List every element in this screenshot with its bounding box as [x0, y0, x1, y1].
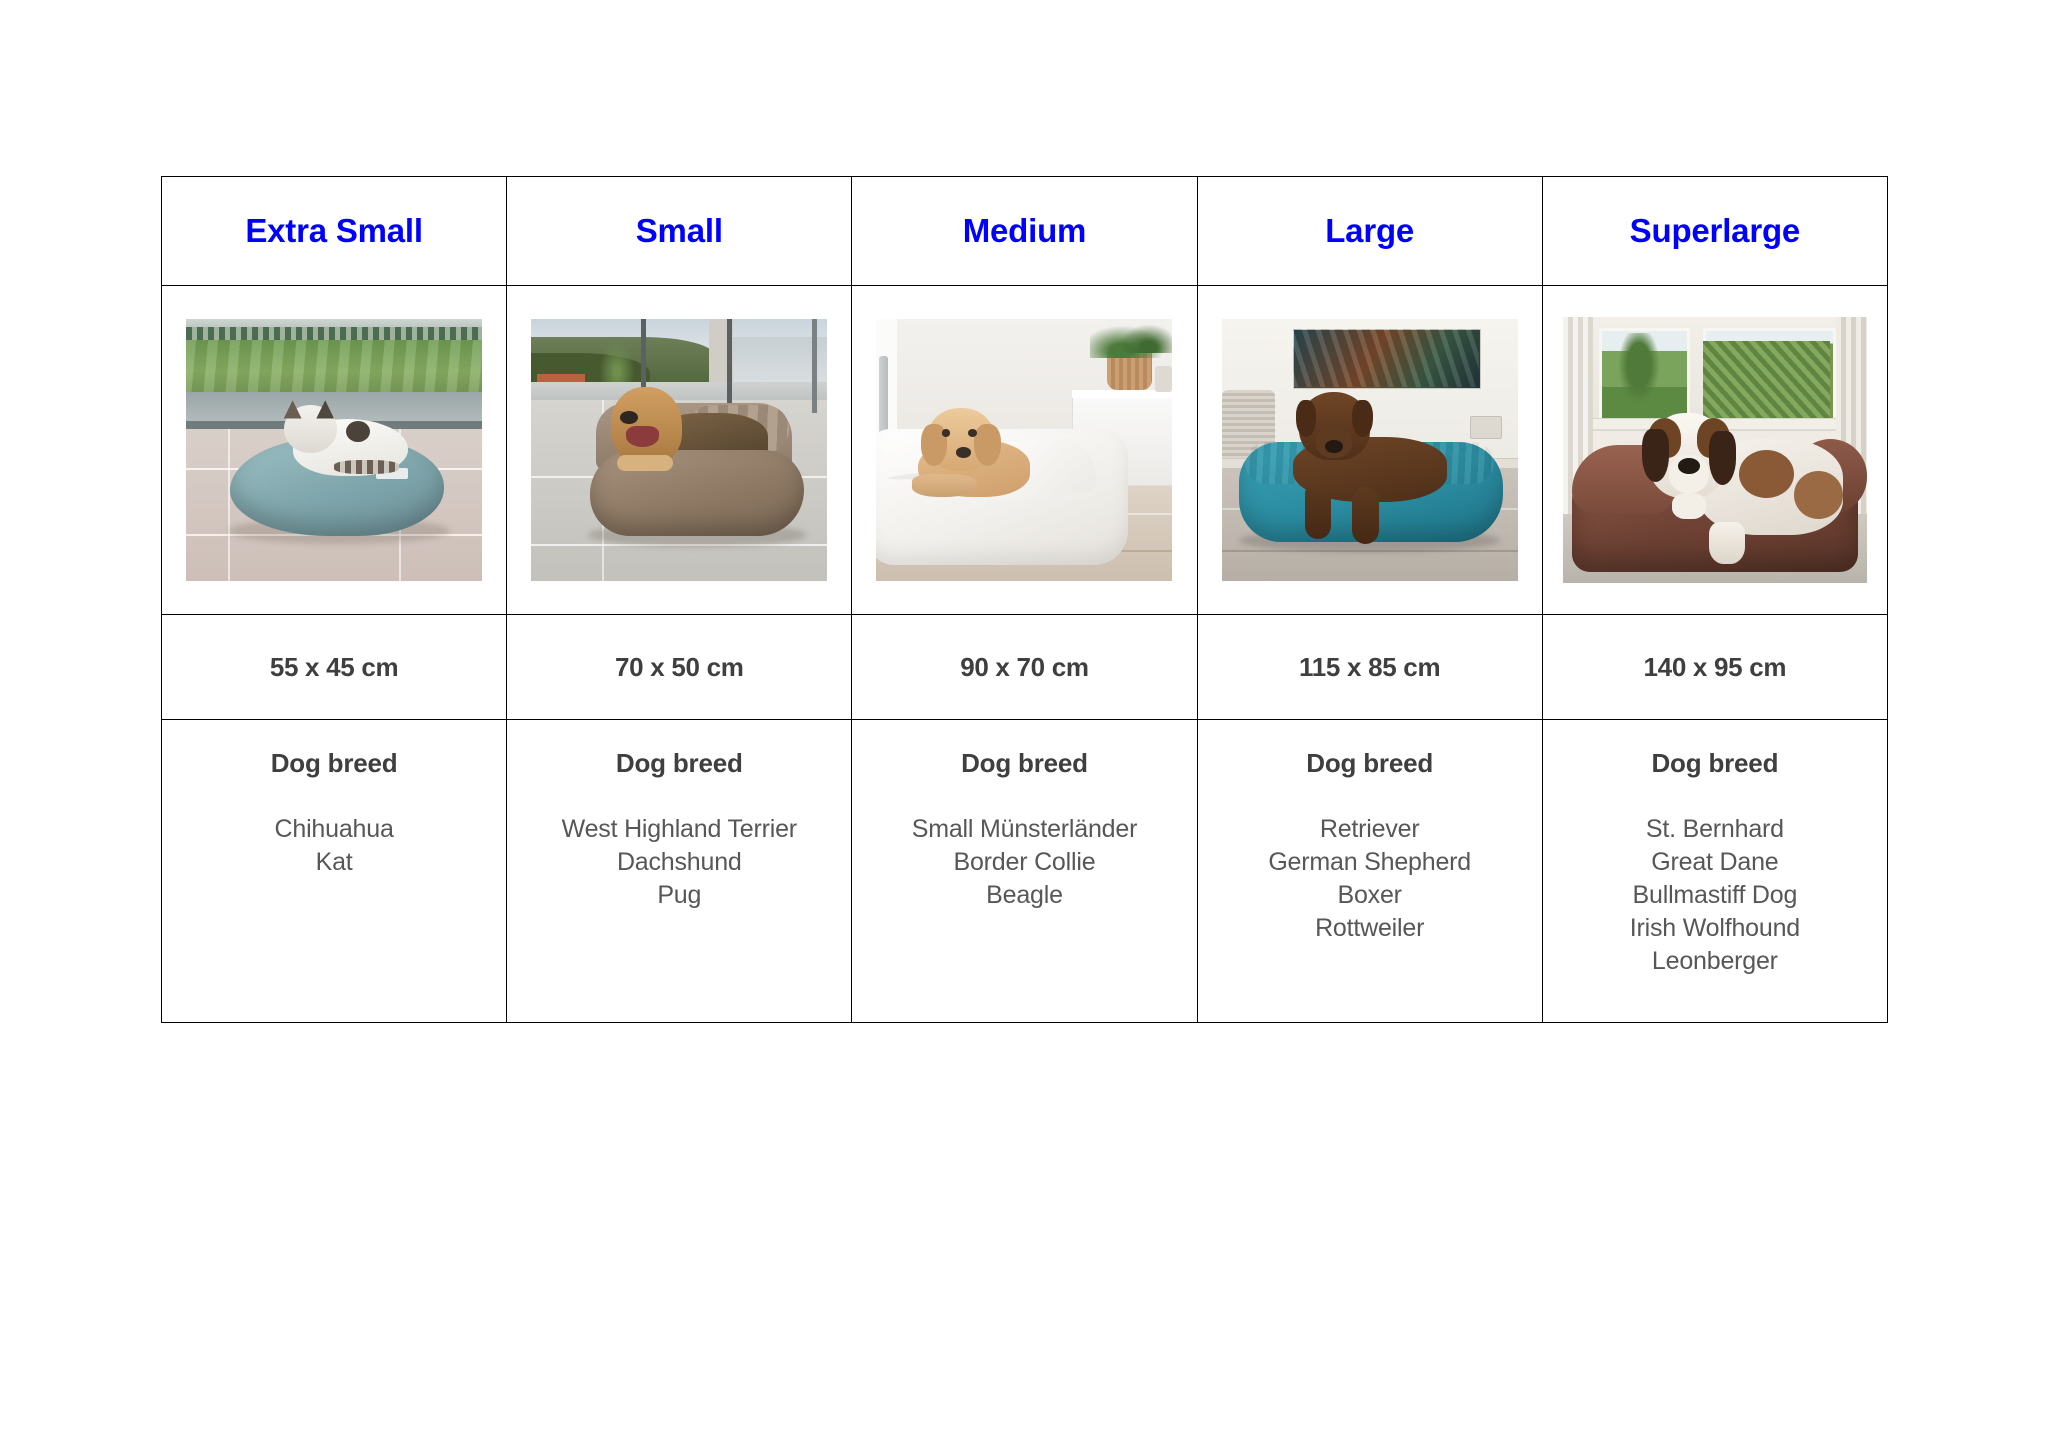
photo-small	[531, 319, 827, 581]
dog-eye-right	[968, 429, 977, 437]
breed-item: St. Bernhard	[1543, 813, 1887, 846]
breed-item: German Shepherd	[1198, 846, 1542, 879]
photo-cell-small	[507, 286, 852, 615]
cat-tail	[334, 460, 399, 473]
breed-item: West Highland Terrier	[507, 813, 851, 846]
dog-nose	[1678, 458, 1699, 474]
dog-ear-right	[1709, 431, 1736, 484]
photo-cell-medium	[852, 286, 1197, 615]
breed-cell-extra-small: Dog breed Chihuahua Kat	[162, 720, 507, 1023]
dimension-value-superlarge: 140 x 95 cm	[1543, 652, 1887, 683]
garden-hedge	[1703, 341, 1831, 418]
dog-paw-secondary	[1672, 493, 1705, 520]
breed-list-superlarge: St. Bernhard Great Dane Bullmastiff Dog …	[1543, 813, 1887, 978]
header-cell-small: Small	[507, 177, 852, 286]
photo-medium	[876, 319, 1172, 581]
header-cell-large: Large	[1197, 177, 1542, 286]
candle-object	[1155, 366, 1173, 392]
plant-foliage	[1113, 319, 1172, 353]
header-cell-medium: Medium	[852, 177, 1197, 286]
breed-item: Retriever	[1198, 813, 1542, 846]
breed-item: Bullmastiff Dog	[1543, 879, 1887, 912]
lawn-texture-layer	[186, 340, 482, 392]
dog-nose	[956, 447, 971, 457]
window-mullion	[812, 319, 817, 413]
breed-block-large: Dog breed Retriever German Shepherd Boxe…	[1198, 720, 1542, 945]
breed-item: Boxer	[1198, 879, 1542, 912]
column-title-large: Large	[1198, 213, 1542, 249]
dog-nose	[620, 411, 638, 424]
dimension-cell-extra-small: 55 x 45 cm	[162, 615, 507, 720]
breed-item: Border Collie	[852, 846, 1196, 879]
palm-foliage	[596, 335, 637, 387]
column-title-extra-small: Extra Small	[162, 213, 506, 249]
dog-ear-left	[1642, 429, 1669, 482]
table-header-row: Extra Small Small Medium Large Superlarg…	[162, 177, 1888, 286]
breed-list-extra-small: Chihuahua Kat	[162, 813, 506, 879]
dimension-value-extra-small: 55 x 45 cm	[162, 652, 506, 683]
dimension-value-medium: 90 x 70 cm	[852, 652, 1196, 683]
photo-wrapper-small	[507, 286, 851, 614]
breed-list-medium: Small Münsterländer Border Collie Beagle	[852, 813, 1196, 912]
breed-block-small: Dog breed West Highland Terrier Dachshun…	[507, 720, 851, 912]
column-title-small: Small	[507, 213, 851, 249]
power-socket-icon	[1470, 416, 1502, 439]
breed-cell-small: Dog breed West Highland Terrier Dachshun…	[507, 720, 852, 1023]
column-title-superlarge: Superlarge	[1543, 213, 1887, 249]
breed-item: Leonberger	[1543, 945, 1887, 978]
dog-open-mouth	[626, 426, 659, 447]
cat-coat-patch	[346, 421, 370, 442]
photo-cell-extra-small	[162, 286, 507, 615]
breed-item: Rottweiler	[1198, 912, 1542, 945]
table-photo-row	[162, 286, 1888, 615]
breed-list-small: West Highland Terrier Dachshund Pug	[507, 813, 851, 912]
dog-coat-patch	[1739, 450, 1794, 498]
tile-seam-icon	[228, 429, 230, 581]
dog-front-leg-right	[1352, 487, 1379, 545]
header-cell-extra-small: Extra Small	[162, 177, 507, 286]
dog-front-paws	[912, 474, 977, 498]
breed-list-large: Retriever German Shepherd Boxer Rottweil…	[1198, 813, 1542, 945]
dog-front-paw	[1709, 522, 1745, 565]
dog-coat-patch	[1794, 471, 1843, 519]
breed-cell-medium: Dog breed Small Münsterländer Border Col…	[852, 720, 1197, 1023]
breed-heading-large: Dog breed	[1198, 748, 1542, 779]
photo-extra-small	[186, 319, 482, 581]
photo-wrapper-medium	[852, 286, 1196, 614]
photo-cell-superlarge	[1542, 286, 1887, 615]
column-title-medium: Medium	[852, 213, 1196, 249]
dimension-value-small: 70 x 50 cm	[507, 652, 851, 683]
dimension-cell-superlarge: 140 x 95 cm	[1542, 615, 1887, 720]
dimension-value-large: 115 x 85 cm	[1198, 652, 1542, 683]
header-cell-superlarge: Superlarge	[1542, 177, 1887, 286]
photo-wrapper-superlarge	[1543, 286, 1887, 614]
dog-bed-size-table: Extra Small Small Medium Large Superlarg…	[161, 176, 1888, 1023]
dog-front-legs	[617, 455, 673, 471]
breed-heading-small: Dog breed	[507, 748, 851, 779]
photo-cell-large	[1197, 286, 1542, 615]
breed-item: Kat	[162, 846, 506, 879]
breed-item: Small Münsterländer	[852, 813, 1196, 846]
dimension-cell-large: 115 x 85 cm	[1197, 615, 1542, 720]
photo-wrapper-extra-small	[162, 286, 506, 614]
breed-item: Irish Wolfhound	[1543, 912, 1887, 945]
dog-ear-right	[1352, 400, 1373, 437]
dog-ear-right	[974, 424, 1001, 466]
dimension-cell-small: 70 x 50 cm	[507, 615, 852, 720]
breed-heading-extra-small: Dog breed	[162, 748, 506, 779]
breed-heading-medium: Dog breed	[852, 748, 1196, 779]
breed-block-superlarge: Dog breed St. Bernhard Great Dane Bullma…	[1543, 720, 1887, 978]
breed-item: Great Dane	[1543, 846, 1887, 879]
garden-tree	[1618, 333, 1661, 405]
dog-front-leg-left	[1305, 481, 1332, 539]
breed-item: Chihuahua	[162, 813, 506, 846]
document-page: Extra Small Small Medium Large Superlarg…	[0, 0, 2048, 1448]
dog-nose	[1325, 440, 1343, 453]
photo-superlarge	[1563, 317, 1867, 583]
breed-cell-superlarge: Dog breed St. Bernhard Great Dane Bullma…	[1542, 720, 1887, 1023]
fence-layer	[186, 327, 482, 340]
photo-wrapper-large	[1198, 286, 1542, 614]
breed-item: Dachshund	[507, 846, 851, 879]
dog-ear-left	[1296, 400, 1317, 437]
breed-cell-large: Dog breed Retriever German Shepherd Boxe…	[1197, 720, 1542, 1023]
table-breeds-row: Dog breed Chihuahua Kat Dog breed West H…	[162, 720, 1888, 1023]
artwork-texture	[1293, 329, 1479, 387]
breed-item: Pug	[507, 879, 851, 912]
breed-block-extra-small: Dog breed Chihuahua Kat	[162, 720, 506, 879]
dimension-cell-medium: 90 x 70 cm	[852, 615, 1197, 720]
breed-block-medium: Dog breed Small Münsterländer Border Col…	[852, 720, 1196, 912]
photo-large	[1222, 319, 1518, 581]
table-dimensions-row: 55 x 45 cm 70 x 50 cm 90 x 70 cm 115 x 8…	[162, 615, 1888, 720]
breed-heading-superlarge: Dog breed	[1543, 748, 1887, 779]
breed-item: Beagle	[852, 879, 1196, 912]
